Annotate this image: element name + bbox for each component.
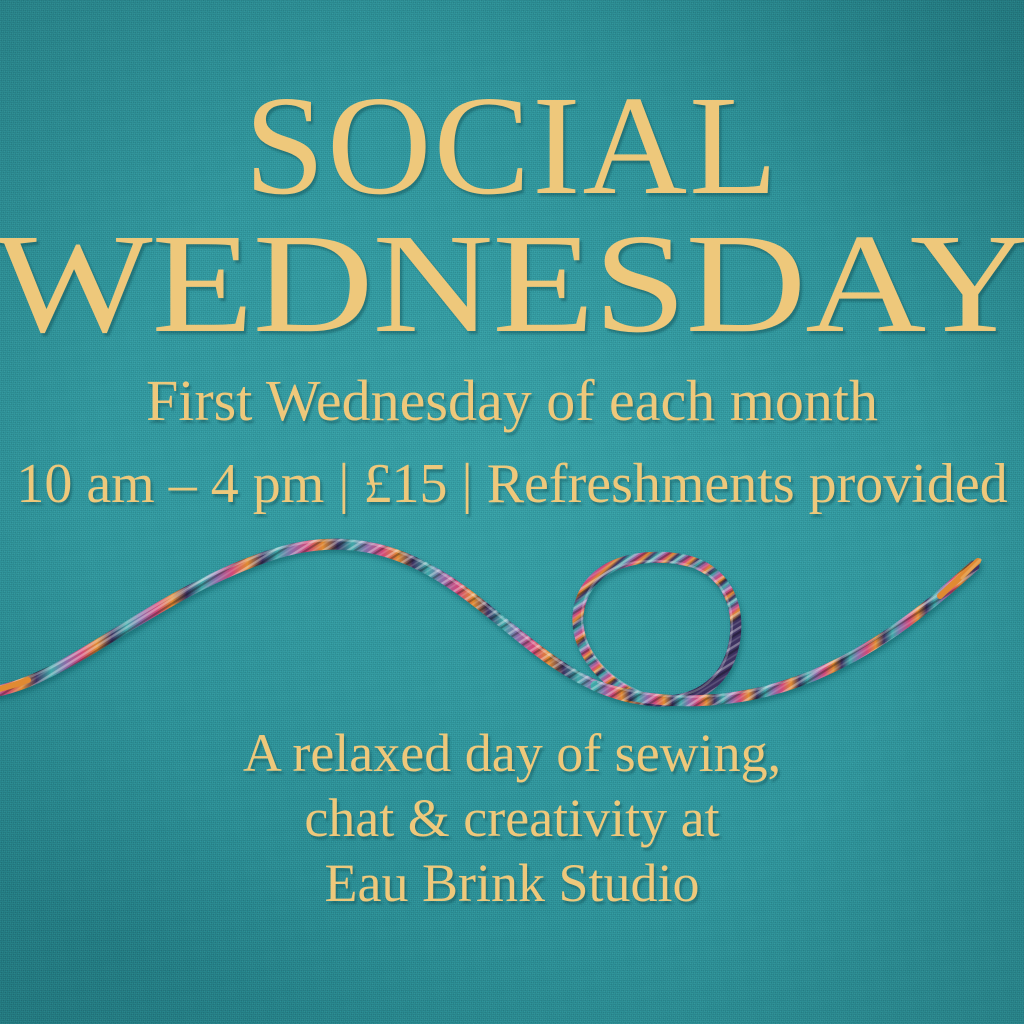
poster-canvas: SOCIAL WEDNESDAY First Wednesday of each… — [0, 0, 1024, 1024]
headline-line-social: SOCIAL — [0, 74, 1024, 216]
headline-line-wednesday: WEDNESDAY — [0, 212, 1024, 354]
blurb-line-2: chat & creativity at — [0, 791, 1024, 845]
blurb-line-3-venue: Eau Brink Studio — [0, 856, 1024, 910]
poster-text-layer: SOCIAL WEDNESDAY First Wednesday of each… — [0, 0, 1024, 1024]
subtitle-frequency: First Wednesday of each month — [0, 372, 1024, 430]
blurb-line-1: A relaxed day of sewing, — [0, 726, 1024, 780]
subtitle-details: 10 am – 4 pm | £15 | Refreshments provid… — [0, 456, 1024, 512]
